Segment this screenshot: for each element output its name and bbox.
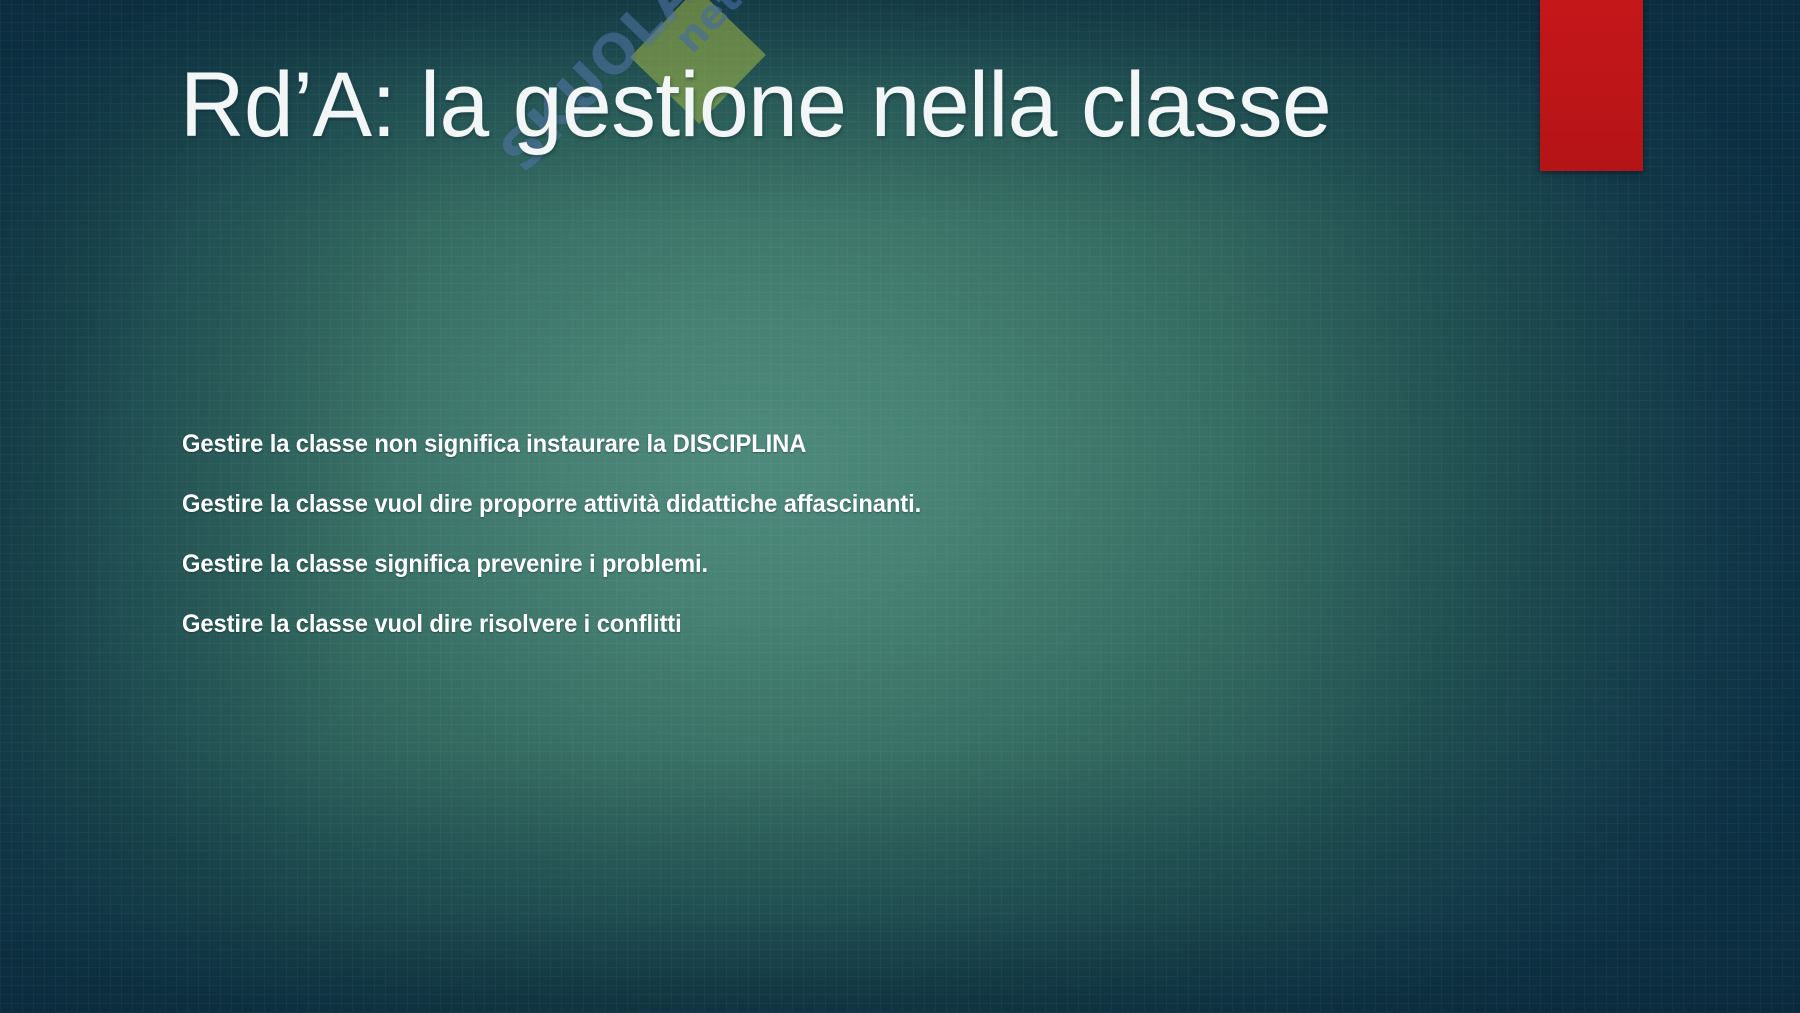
body-line: Gestire la classe vuol dire proporre att… [182,492,1531,517]
presentation-slide: net SKUOLA Rd’A: la gestione nella class… [0,0,1800,1013]
watermark-chip-label: net [666,0,751,62]
title-placeholder: Rd’A: la gestione nella classe [180,56,1500,155]
slide-title: Rd’A: la gestione nella classe [180,56,1460,155]
body-line: Gestire la classe non significa instaura… [182,432,1531,457]
body-line: Gestire la classe vuol dire risolvere i … [182,612,1531,637]
content-placeholder: Gestire la classe non significa instaura… [182,432,1602,637]
red-accent-rectangle [1540,0,1643,171]
body-line: Gestire la classe significa prevenire i … [182,552,1531,577]
